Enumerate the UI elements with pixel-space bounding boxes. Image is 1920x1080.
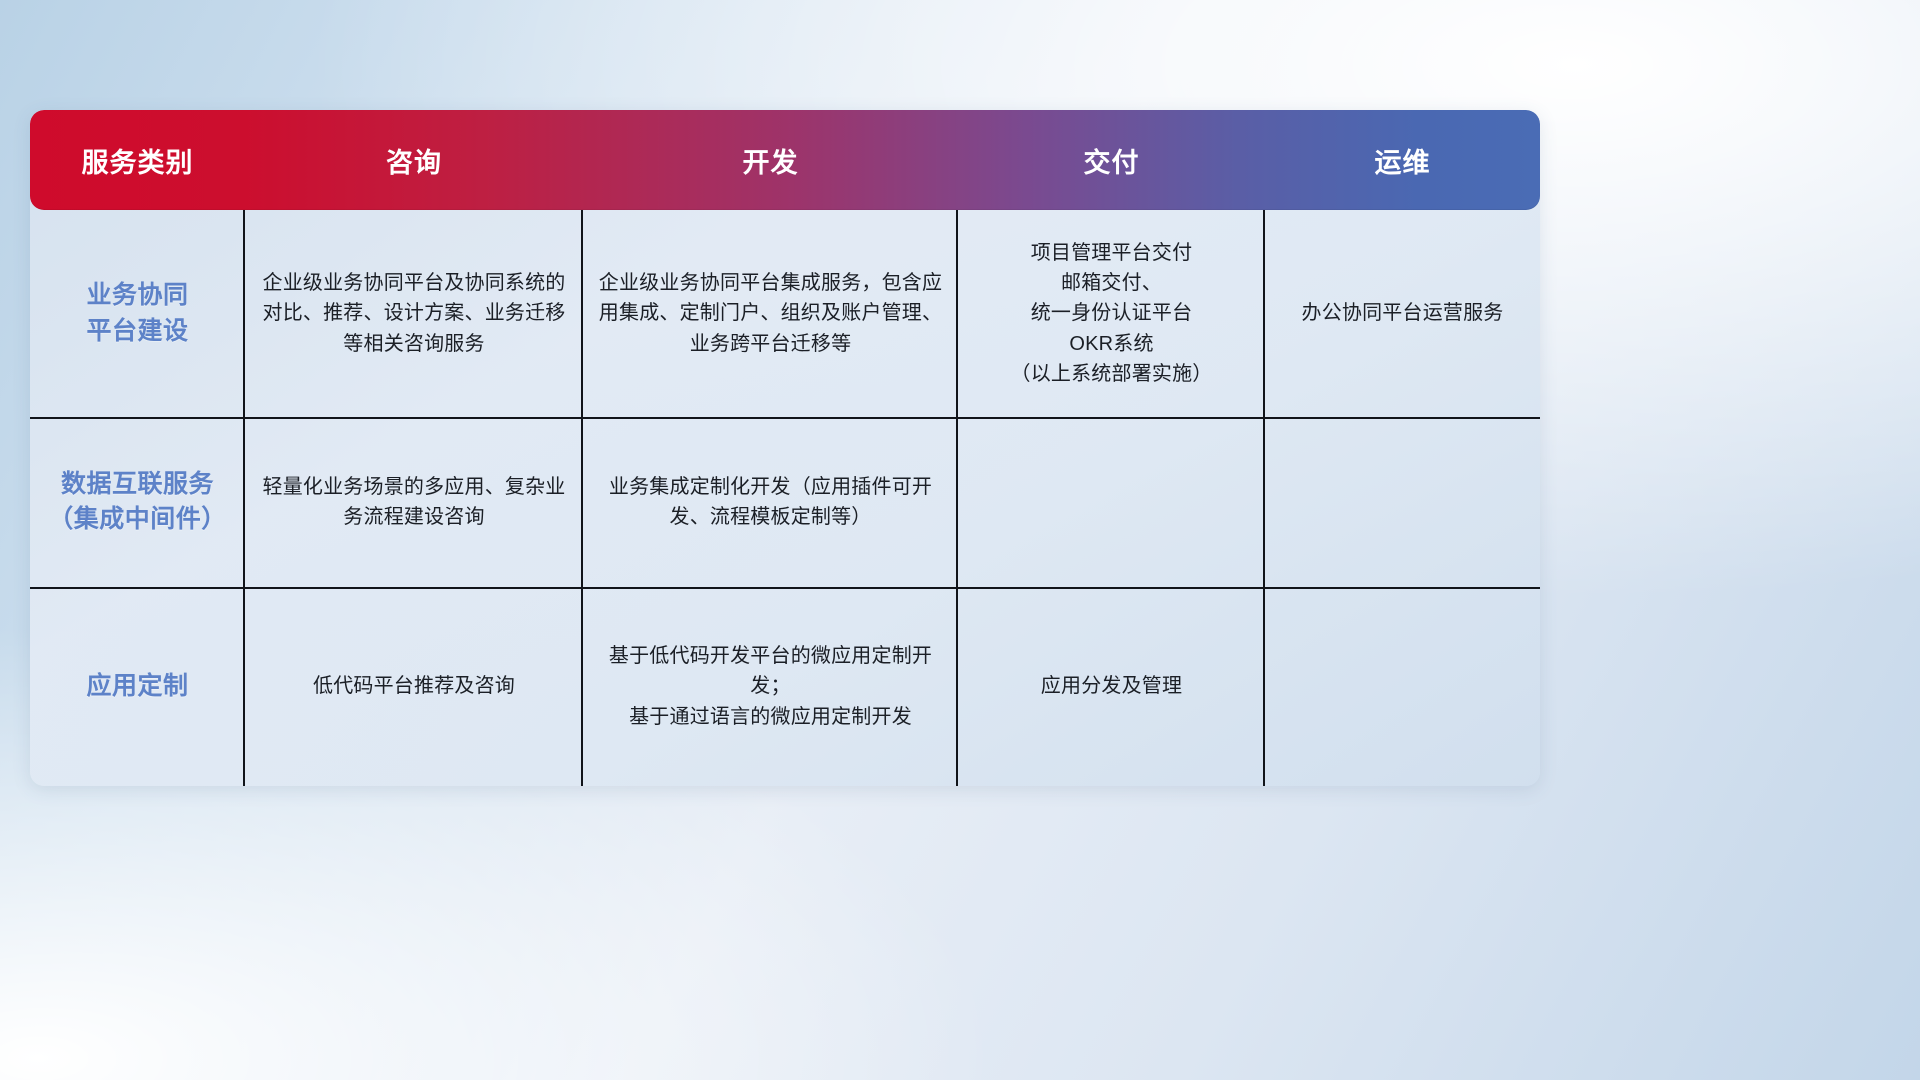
- category-label-line1: 业务协同: [86, 278, 188, 314]
- cell-delivery: 项目管理平台交付 邮箱交付、 统一身份认证平台 OKR系统 （以上系统部署实施）: [958, 210, 1265, 417]
- cell-operations: [1265, 587, 1540, 786]
- category-label: 数据互联服务 （集成中间件）: [48, 467, 227, 538]
- table-row: 应用定制 低代码平台推荐及咨询 基于低代码开发平台的微应用定制开发； 基于通过语…: [30, 587, 1540, 786]
- cell-text: 企业级业务协同平台及协同系统的对比、推荐、设计方案、业务迁移等相关咨询服务: [259, 268, 569, 359]
- column-header-development: 开发: [583, 141, 958, 180]
- cell-delivery: 应用分发及管理: [958, 587, 1265, 786]
- cell-operations: 办公协同平台运营服务: [1265, 210, 1540, 417]
- table-row: 业务协同 平台建设 企业级业务协同平台及协同系统的对比、推荐、设计方案、业务迁移…: [30, 210, 1540, 417]
- table-header-row: 服务类别 咨询 开发 交付 运维: [30, 110, 1540, 210]
- cell-consulting: 低代码平台推荐及咨询: [245, 587, 583, 786]
- table-body: 业务协同 平台建设 企业级业务协同平台及协同系统的对比、推荐、设计方案、业务迁移…: [30, 210, 1540, 786]
- cell-text: 项目管理平台交付 邮箱交付、 统一身份认证平台 OKR系统 （以上系统部署实施）: [1011, 238, 1213, 390]
- column-header-consulting: 咨询: [245, 141, 583, 180]
- table-row: 数据互联服务 （集成中间件） 轻量化业务场景的多应用、复杂业务流程建设咨询 业务…: [30, 417, 1540, 587]
- column-header-operations: 运维: [1265, 141, 1540, 180]
- category-label-line1: 应用定制: [86, 669, 188, 705]
- cell-delivery: [958, 417, 1265, 587]
- cell-development: 基于低代码开发平台的微应用定制开发； 基于通过语言的微应用定制开发: [583, 587, 958, 786]
- cell-development: 业务集成定制化开发（应用插件可开发、流程模板定制等）: [583, 417, 958, 587]
- row-category-cell: 数据互联服务 （集成中间件）: [30, 417, 245, 587]
- cell-text: 办公协同平台运营服务: [1302, 298, 1504, 328]
- cell-text: 基于低代码开发平台的微应用定制开发； 基于通过语言的微应用定制开发: [597, 641, 944, 732]
- cell-operations: [1265, 417, 1540, 587]
- cell-text: 低代码平台推荐及咨询: [313, 671, 515, 701]
- column-header-delivery: 交付: [958, 141, 1265, 180]
- cell-consulting: 企业级业务协同平台及协同系统的对比、推荐、设计方案、业务迁移等相关咨询服务: [245, 210, 583, 417]
- service-matrix-table: 服务类别 咨询 开发 交付 运维 业务协同 平台建设 企业级业务协同平台及协同系…: [30, 110, 1540, 786]
- category-label: 应用定制: [86, 669, 188, 705]
- category-label: 业务协同 平台建设: [86, 278, 188, 349]
- cell-text: 企业级业务协同平台集成服务，包含应用集成、定制门户、组织及账户管理、业务跨平台迁…: [597, 268, 944, 359]
- cell-text: 业务集成定制化开发（应用插件可开发、流程模板定制等）: [597, 472, 944, 533]
- cell-text: 应用分发及管理: [1041, 671, 1182, 701]
- cell-development: 企业级业务协同平台集成服务，包含应用集成、定制门户、组织及账户管理、业务跨平台迁…: [583, 210, 958, 417]
- category-label-line2: 平台建设: [86, 314, 188, 350]
- row-category-cell: 应用定制: [30, 587, 245, 786]
- cell-consulting: 轻量化业务场景的多应用、复杂业务流程建设咨询: [245, 417, 583, 587]
- category-label-line1: 数据互联服务: [48, 467, 227, 503]
- row-category-cell: 业务协同 平台建设: [30, 210, 245, 417]
- category-label-line2: （集成中间件）: [48, 502, 227, 538]
- cell-text: 轻量化业务场景的多应用、复杂业务流程建设咨询: [259, 472, 569, 533]
- column-header-service-category: 服务类别: [30, 141, 245, 180]
